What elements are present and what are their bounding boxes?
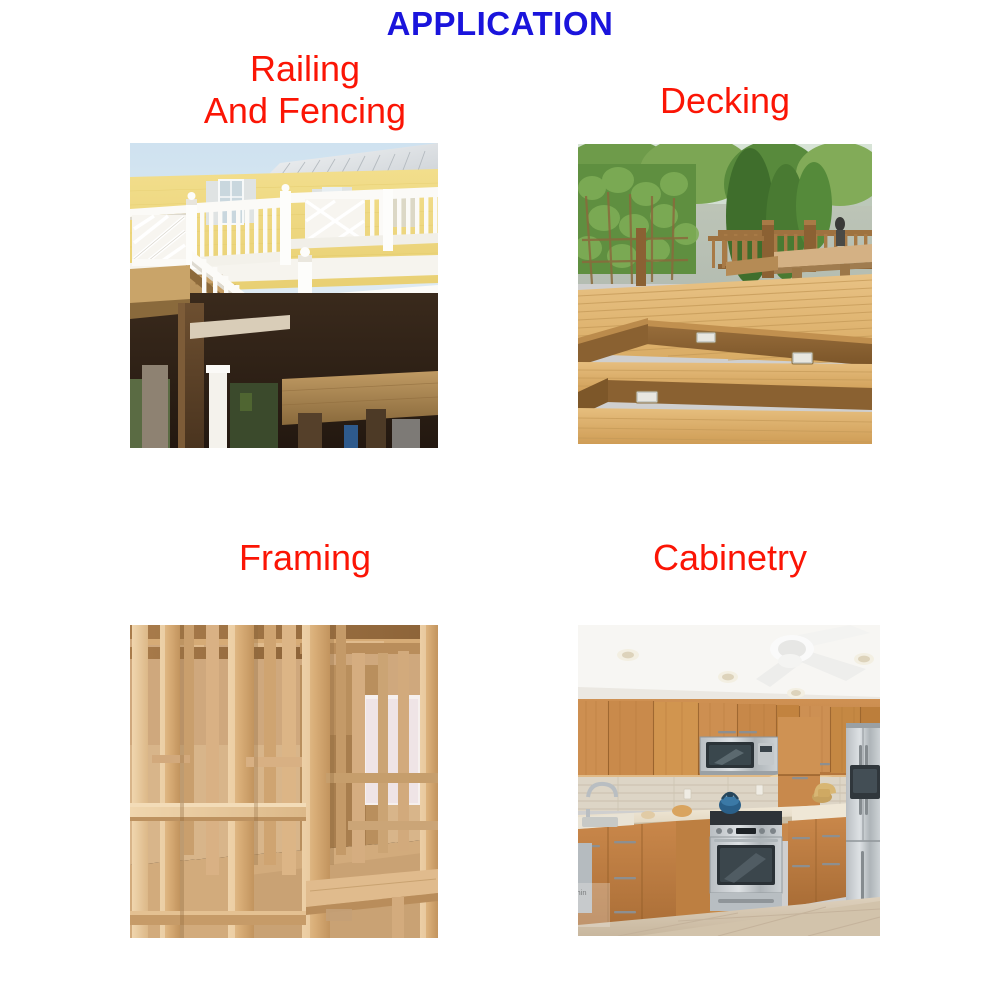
page-title: APPLICATION <box>0 4 1000 44</box>
label-framing: Framing <box>105 537 505 579</box>
label-railing-and-fencing: Railing And Fencing <box>105 48 505 132</box>
application-slide: APPLICATION Railing And Fencing Decking … <box>0 0 1000 1000</box>
framing-photo <box>130 625 438 938</box>
decking-photo <box>578 144 872 444</box>
railing-and-fencing-photo <box>130 143 438 448</box>
label-decking: Decking <box>565 80 885 122</box>
label-cabinetry: Cabinetry <box>560 537 900 579</box>
cabinetry-photo: aughin ens FL <box>578 625 880 936</box>
watermark-line-1: aughin <box>578 888 587 897</box>
